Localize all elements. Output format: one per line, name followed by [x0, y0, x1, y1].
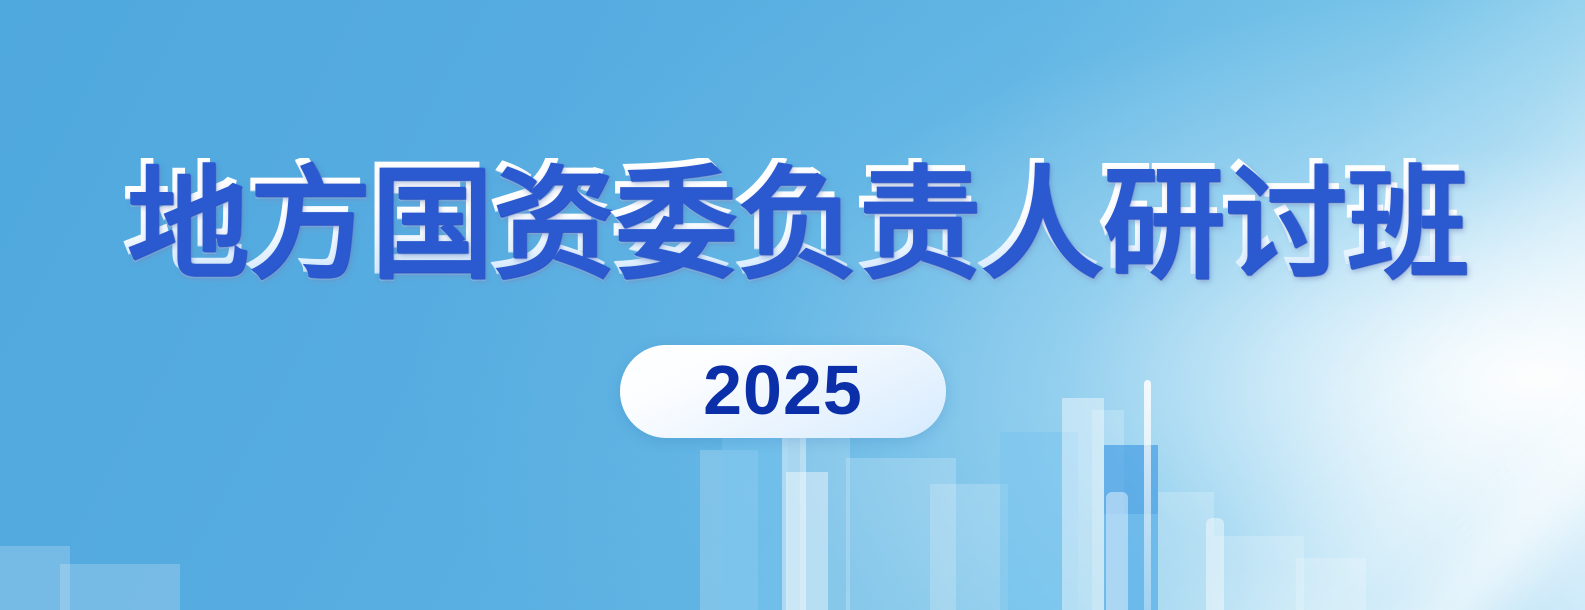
title-char: 地: [122, 158, 244, 280]
title-char: 负: [732, 158, 854, 280]
title-char: 责: [854, 158, 976, 280]
swoosh-edge-accent: [0, 476, 460, 610]
year-badge: 2025: [620, 345, 946, 438]
building-shape: [1104, 514, 1158, 610]
title-char: 资: [488, 158, 610, 280]
building-shape: [700, 450, 758, 610]
banner-root: 地 方 国 资 委 负 责 人 研 讨 班 2025: [0, 0, 1585, 610]
title-char: 委: [610, 158, 732, 280]
building-shape: [786, 472, 828, 610]
year-badge-label: 2025: [703, 355, 863, 429]
building-shape: [1000, 432, 1078, 610]
building-shape: [1158, 492, 1214, 610]
title-char: 班: [1342, 158, 1464, 280]
building-skyscraper: [1104, 445, 1158, 610]
title-char: 讨: [1220, 158, 1342, 280]
swoosh-graphic: [0, 479, 430, 610]
title-char: 方: [244, 158, 366, 280]
building-shape: [800, 434, 850, 610]
title-char: 研: [1098, 158, 1220, 280]
banner-title: 地 方 国 资 委 负 责 人 研 讨 班: [122, 146, 1452, 292]
building-shape: [1296, 558, 1366, 610]
building-shape: [60, 564, 180, 610]
building-shape: [1092, 410, 1124, 610]
building-shape: [0, 546, 70, 610]
building-shape: [1214, 536, 1304, 610]
title-char: 人: [976, 158, 1098, 280]
spire-icon: [1144, 380, 1151, 610]
building-shape: [722, 414, 788, 610]
building-shape: [930, 484, 1008, 610]
building-shape: [1106, 492, 1128, 610]
building-shape: [1062, 398, 1104, 610]
light-beam-icon: [1134, 0, 1585, 610]
building-shape: [1206, 518, 1224, 610]
building-shape: [846, 458, 956, 610]
title-char: 国: [366, 158, 488, 280]
